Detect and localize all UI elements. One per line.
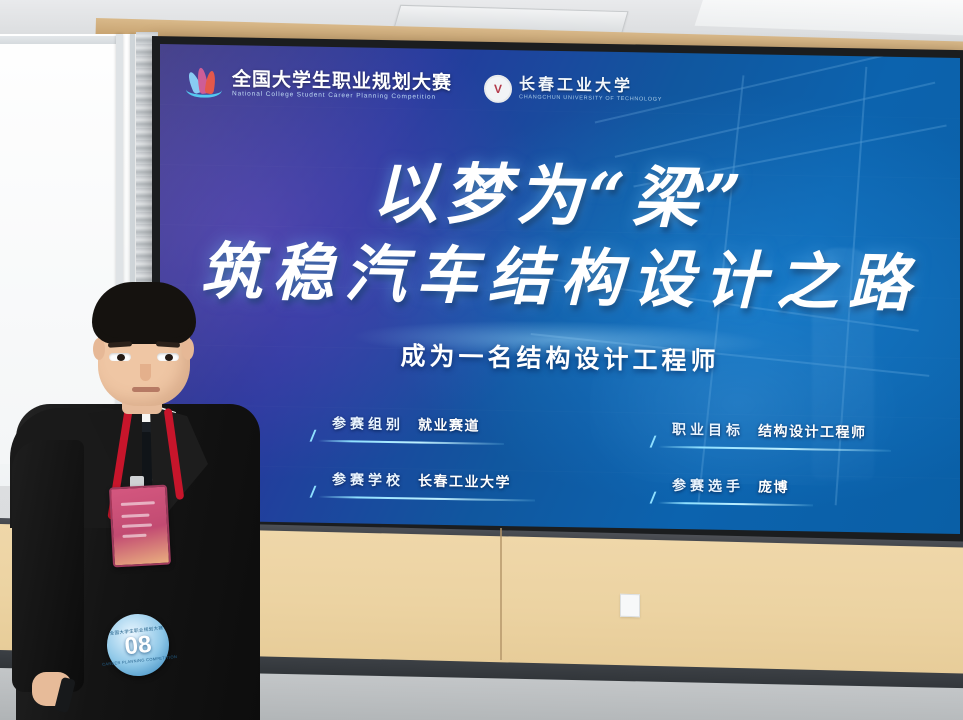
number-badge-number: 08 xyxy=(124,632,153,659)
pupil xyxy=(165,354,173,361)
info-value: 就业赛道 xyxy=(418,415,480,436)
competition-name-en: National College Student Career Planning… xyxy=(232,92,452,102)
info-label: 参赛组别 xyxy=(332,413,404,434)
id-badge xyxy=(109,485,171,568)
info-label: 参赛学校 xyxy=(332,469,404,490)
university-branding: V 长春工业大学 CHANGCHUN UNIVERSITY OF TECHNOL… xyxy=(484,75,662,106)
screenshot-stage: 全国大学生职业规划大赛 National College Student Car… xyxy=(0,0,963,720)
competition-logo-icon xyxy=(186,67,222,100)
hair-fringe xyxy=(96,316,192,338)
info-field-contestant: 参赛选手 庞博 xyxy=(672,475,789,497)
info-field-career-goal: 职业目标 结构设计工程师 xyxy=(672,419,867,442)
info-field-school: 参赛学校 长春工业大学 xyxy=(332,469,511,492)
nose xyxy=(140,364,151,381)
university-name-cn: 长春工业大学 xyxy=(519,78,662,96)
slide-title-line2: 筑稳汽车结构设计之路 xyxy=(160,220,960,324)
competition-title: 全国大学生职业规划大赛 National College Student Car… xyxy=(232,71,452,102)
suit-arm xyxy=(12,440,84,692)
wainscot-panel-seam xyxy=(500,528,502,660)
info-field-category: 参赛组别 就业赛道 xyxy=(332,413,480,436)
led-screen: 全国大学生职业规划大赛 National College Student Car… xyxy=(160,44,960,534)
info-value: 结构设计工程师 xyxy=(758,420,867,442)
info-value: 长春工业大学 xyxy=(418,471,511,493)
info-label: 职业目标 xyxy=(672,419,744,440)
university-name-en: CHANGCHUN UNIVERSITY OF TECHNOLOGY xyxy=(519,96,662,104)
mouth xyxy=(132,387,160,392)
info-label: 参赛选手 xyxy=(672,475,744,496)
university-seal-icon: V xyxy=(484,75,512,103)
wall-switch-plate[interactable] xyxy=(620,594,640,617)
pupil xyxy=(117,354,125,361)
presenter: 全国大学生职业规划大赛 08 CAREER PLANNING COMPETITI… xyxy=(10,280,260,720)
competition-name-cn: 全国大学生职业规划大赛 xyxy=(232,71,452,94)
info-value: 庞博 xyxy=(758,476,789,497)
